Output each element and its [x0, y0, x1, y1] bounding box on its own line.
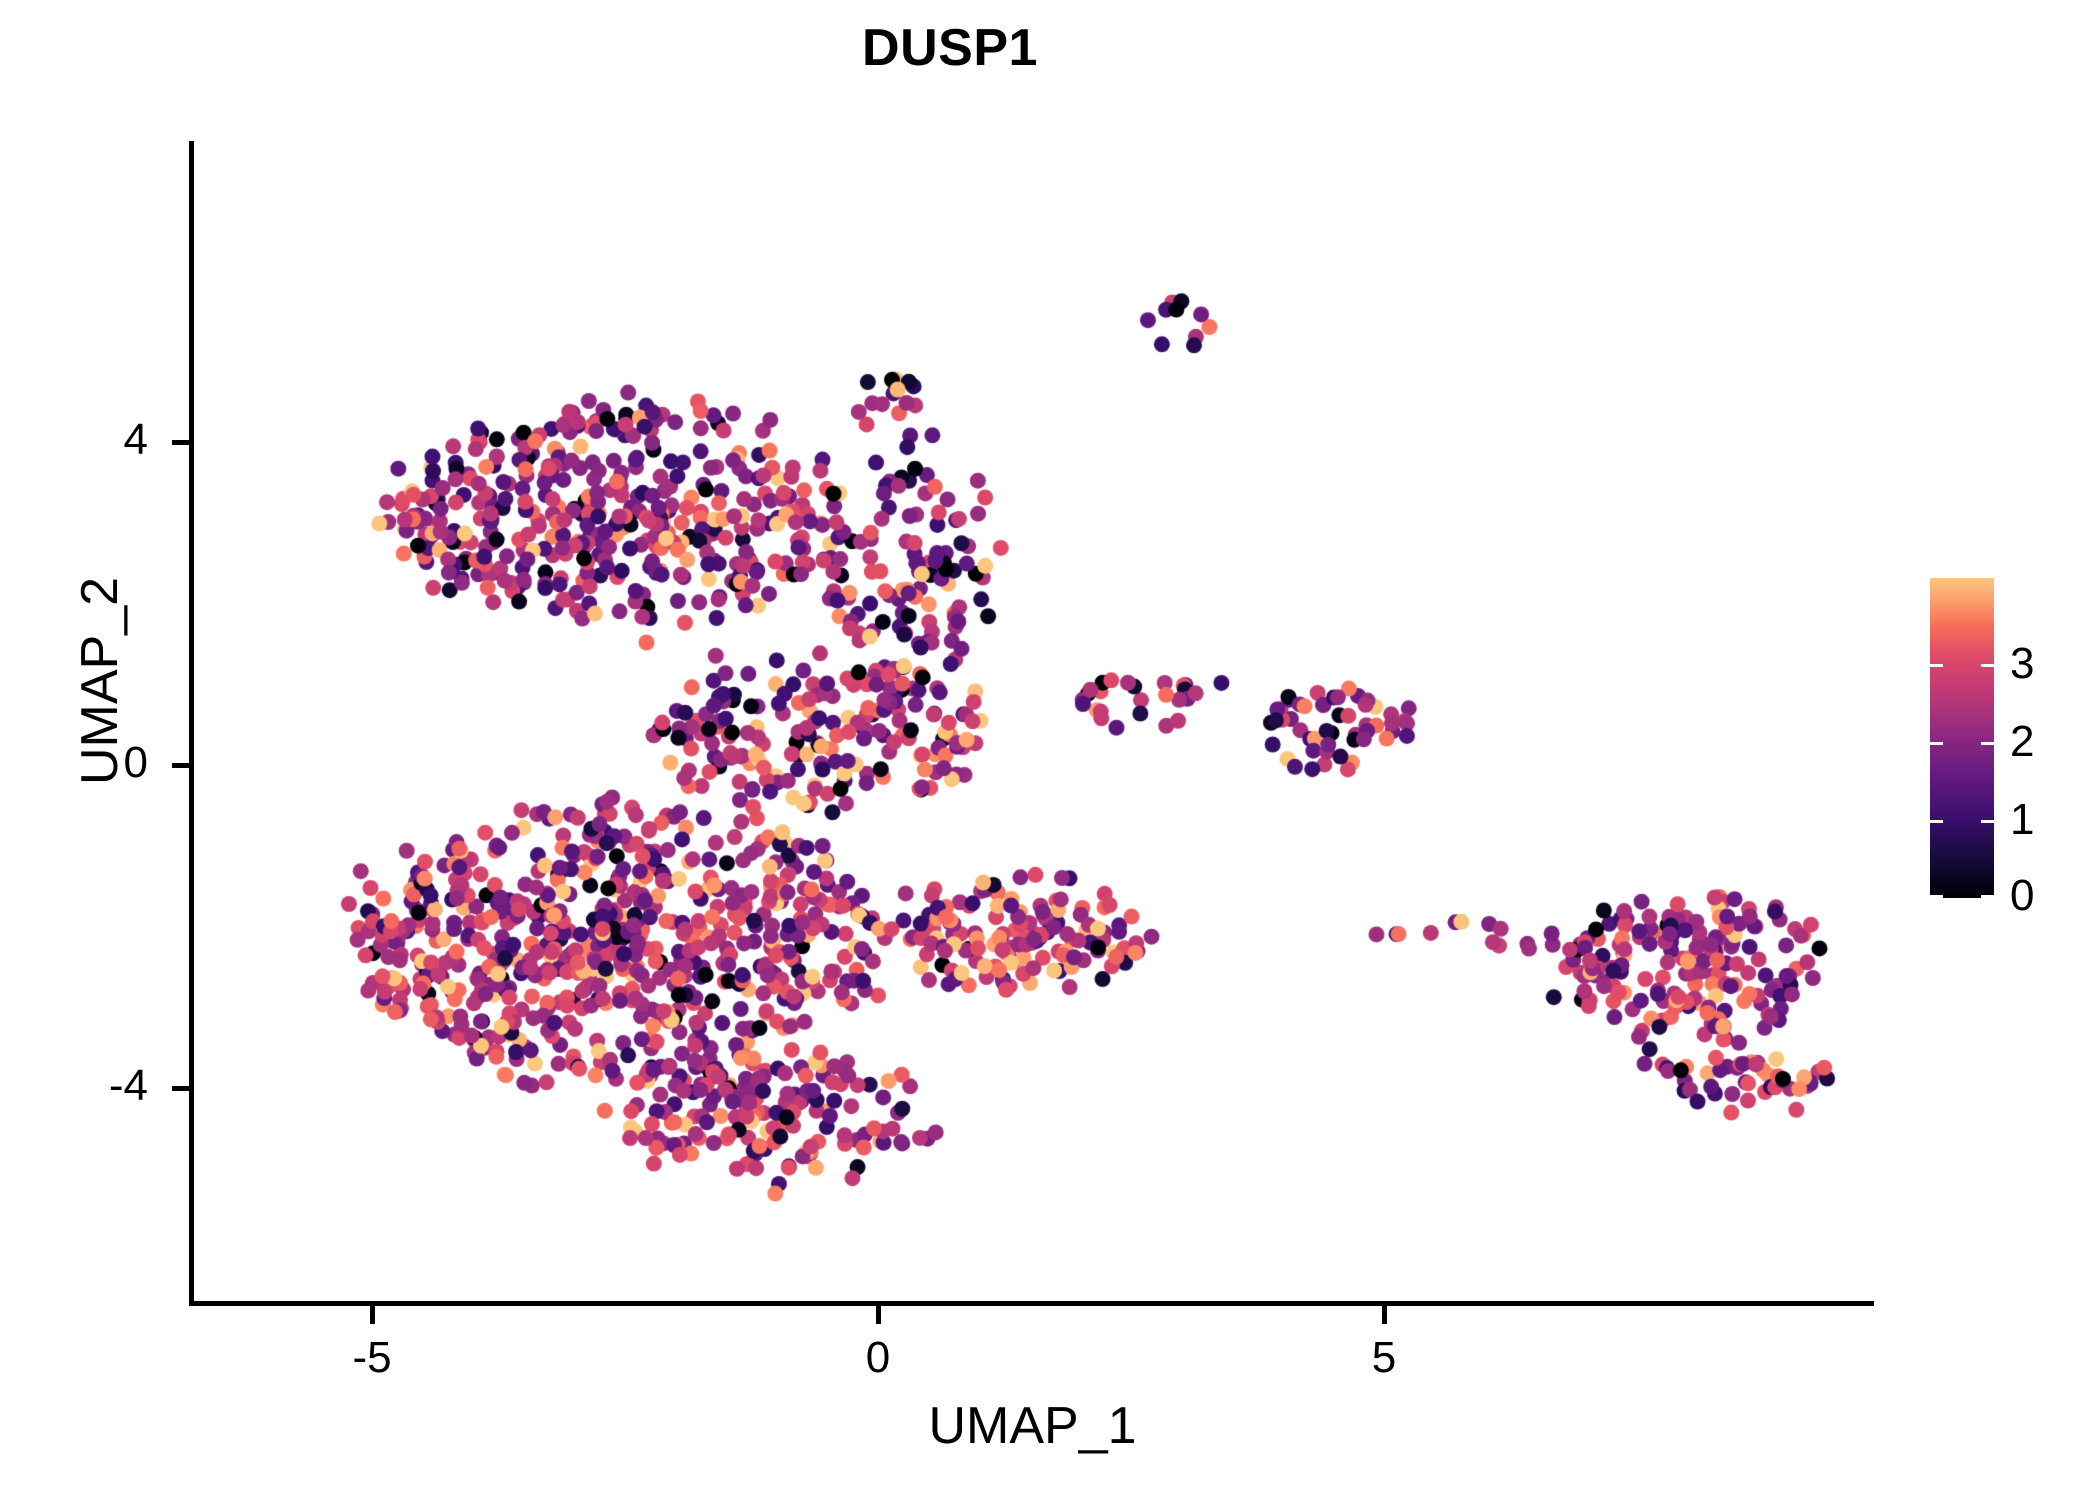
colorbar-tick-3-right — [1981, 664, 1994, 667]
x-tick-5 — [1382, 1306, 1387, 1324]
y-tick-0 — [172, 763, 190, 768]
plot-panel — [192, 141, 1873, 1303]
colorbar-tick-0-left — [1930, 895, 1943, 898]
x-axis-line — [189, 1301, 1874, 1306]
colorbar-tick-1-left — [1930, 820, 1943, 823]
colorbar-tick-0-right — [1981, 895, 1994, 898]
colorbar-tick-2-right — [1981, 742, 1994, 745]
y-axis-line — [189, 141, 194, 1306]
colorbar-label-2: 2 — [2010, 720, 2080, 764]
x-ticklabel-5: 5 — [1304, 1336, 1464, 1380]
colorbar-legend: 3 2 1 0 — [1930, 578, 2080, 900]
x-axis-title: UMAP_1 — [192, 1400, 1873, 1452]
x-tick-minus5 — [370, 1306, 375, 1324]
umap-feature-plot: DUSP1 4 0 -4 -5 0 5 UMAP_1 UMAP_2 3 2 1 … — [0, 0, 2100, 1500]
colorbar-label-3: 3 — [2010, 642, 2080, 686]
y-tick-4 — [172, 440, 190, 445]
x-ticklabel-minus5: -5 — [292, 1336, 452, 1380]
x-tick-0 — [876, 1306, 881, 1324]
colorbar-tick-2-left — [1930, 742, 1943, 745]
y-axis-title: UMAP_2 — [74, 281, 126, 1081]
y-tick-minus4 — [172, 1086, 190, 1091]
colorbar-tick-1-right — [1981, 820, 1994, 823]
page-title: DUSP1 — [0, 22, 1900, 74]
colorbar-label-0: 0 — [2010, 874, 2080, 918]
scatter-canvas — [192, 141, 1873, 1303]
colorbar-gradient — [1930, 578, 1994, 898]
colorbar-label-1: 1 — [2010, 798, 2080, 842]
colorbar-tick-3-left — [1930, 664, 1943, 667]
x-ticklabel-0: 0 — [798, 1336, 958, 1380]
